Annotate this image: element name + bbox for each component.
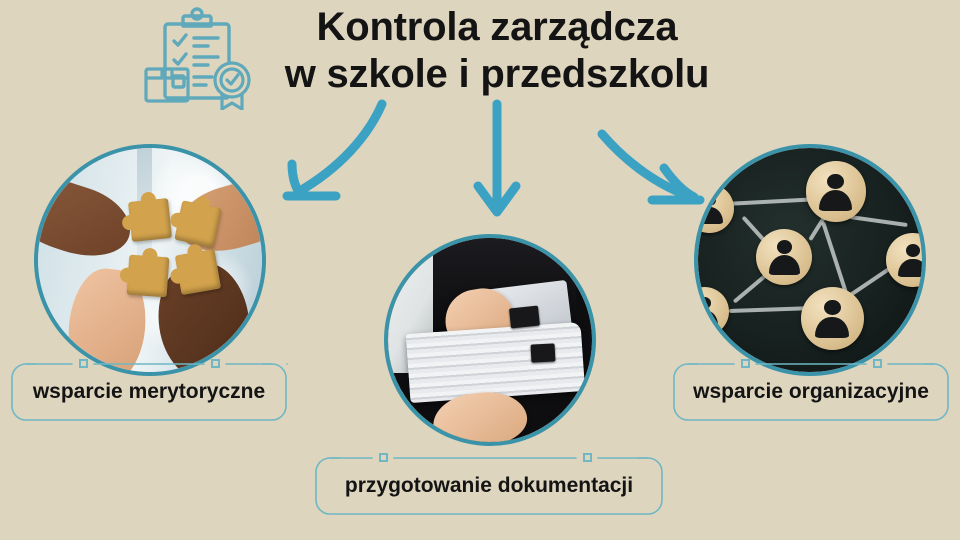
title-line-1: Kontrola zarządcza [262,4,732,51]
label-tick-right [211,359,220,368]
label-card-dokumentacja[interactable]: przygotowanie dokumentacji [310,452,668,520]
label-text: przygotowanie dokumentacji [345,474,633,498]
page-title: Kontrola zarządcza w szkole i przedszkol… [262,4,732,98]
arrow-to-center-card-icon [470,98,526,226]
hands-holding-document-stack-photo [384,234,596,446]
label-tick-right [873,359,882,368]
label-tick-left [79,359,88,368]
label-tick-left [379,453,388,462]
label-text: wsparcie merytoryczne [33,380,265,404]
title-line-2: w szkole i przedszkolu [262,51,732,98]
network-of-people-chalkboard-photo [694,144,926,376]
label-text: wsparcie organizacyjne [693,380,929,404]
label-tick-right [583,453,592,462]
label-tick-left [741,359,750,368]
arrow-to-left-card-icon [262,96,392,212]
label-card-merytoryczne[interactable]: wsparcie merytoryczne [6,358,292,426]
label-card-organizacyjne[interactable]: wsparcie organizacyjne [668,358,954,426]
clipboard-checklist-award-icon [142,6,258,110]
infographic-canvas: Kontrola zarządcza w szkole i przedszkol… [0,0,960,540]
hands-holding-puzzle-pieces-photo [34,144,266,376]
